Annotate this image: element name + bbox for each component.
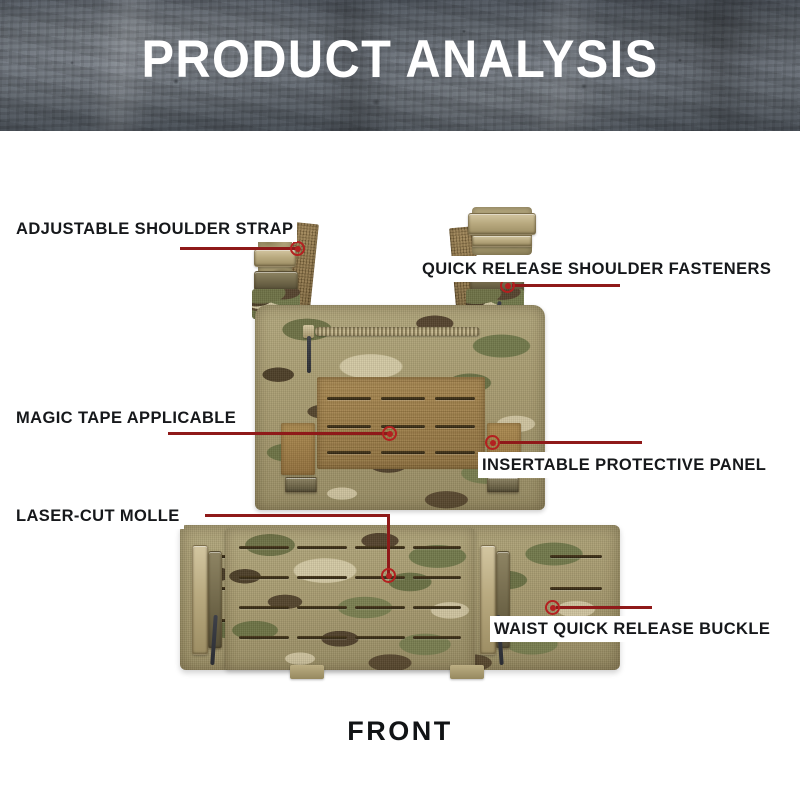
callout-label-laser-cut-molle: LASER-CUT MOLLE <box>12 503 184 529</box>
leader-line-laser-cut-molle-horizontal <box>205 514 390 517</box>
callout-label-insertable-protective-panel: INSERTABLE PROTECTIVE PANEL <box>478 452 770 478</box>
callout-label-quick-release-shoulder-fasteners: QUICK RELEASE SHOULDER FASTENERS <box>418 256 775 282</box>
bottom-tab-right <box>450 665 484 679</box>
molle-slot <box>435 397 475 400</box>
cummerbund-slot <box>355 576 405 579</box>
cummerbund-slot <box>413 606 461 609</box>
cummerbund-slot <box>413 636 461 639</box>
molle-slot <box>435 425 475 428</box>
cummerbund-slot <box>297 546 347 549</box>
cummerbund-slot <box>413 576 461 579</box>
leader-line-magic-tape-applicable <box>168 432 390 435</box>
waist-quick-release-buckle-left <box>192 545 208 655</box>
cummerbund-front-panel <box>225 528 475 670</box>
callout-label-magic-tape-applicable: MAGIC TAPE APPLICABLE <box>12 405 240 431</box>
strap-buckle-top-right <box>468 213 536 235</box>
marker-insertable-protective-panel <box>485 435 500 450</box>
page-title: PRODUCT ANALYSIS <box>32 30 768 90</box>
marker-adjustable-shoulder-strap <box>290 241 305 256</box>
leader-line-quick-release-shoulder-fasteners <box>512 284 620 287</box>
cummerbund-slot <box>239 546 289 549</box>
molle-slot <box>435 451 475 454</box>
cummerbund-slot <box>355 546 405 549</box>
plate-buckle-left <box>285 477 317 493</box>
molle-slot <box>327 397 371 400</box>
cummerbund-slot <box>550 587 602 590</box>
view-caption-front: FRONT <box>0 716 800 747</box>
leader-line-waist-quick-release-buckle <box>556 606 652 609</box>
cummerbund-slot <box>297 636 347 639</box>
molle-slot <box>327 451 371 454</box>
cummerbund-slot <box>297 606 347 609</box>
cummerbund-slot <box>297 576 347 579</box>
bottom-tab-left <box>290 665 324 679</box>
plate-zipper <box>315 327 480 336</box>
marker-waist-quick-release-buckle <box>545 600 560 615</box>
cummerbund-slot <box>413 546 461 549</box>
molle-slot <box>381 397 425 400</box>
leader-line-laser-cut-molle-vertical <box>387 514 390 576</box>
leader-line-insertable-protective-panel <box>500 441 642 444</box>
front-plate-body <box>255 305 545 510</box>
plate-buckle-right <box>487 477 519 493</box>
zipper-cord <box>307 336 311 373</box>
callout-label-waist-quick-release-buckle: WAIST QUICK RELEASE BUCKLE <box>490 616 774 642</box>
callout-label-adjustable-shoulder-strap: ADJUSTABLE SHOULDER STRAP <box>12 216 297 242</box>
infographic-canvas: PRODUCT ANALYSIS <box>0 0 800 800</box>
molle-slot <box>327 425 371 428</box>
cummerbund-slot <box>355 606 405 609</box>
strap-roller-left <box>254 249 296 267</box>
cummerbund-slot <box>239 636 289 639</box>
header-banner: PRODUCT ANALYSIS <box>0 0 800 131</box>
cummerbund-slot <box>550 555 602 558</box>
cummerbund-slot <box>239 606 289 609</box>
leader-line-adjustable-shoulder-strap <box>180 247 298 250</box>
marker-laser-cut-molle <box>381 568 396 583</box>
side-flap-left <box>281 423 315 475</box>
cummerbund-slot <box>355 636 405 639</box>
cummerbund-slot <box>239 576 289 579</box>
molle-velcro-panel <box>317 377 485 469</box>
marker-magic-tape-applicable <box>382 426 397 441</box>
quick-release-buckle-left <box>254 271 298 291</box>
strap-roller-right <box>472 235 532 247</box>
molle-slot <box>381 451 425 454</box>
